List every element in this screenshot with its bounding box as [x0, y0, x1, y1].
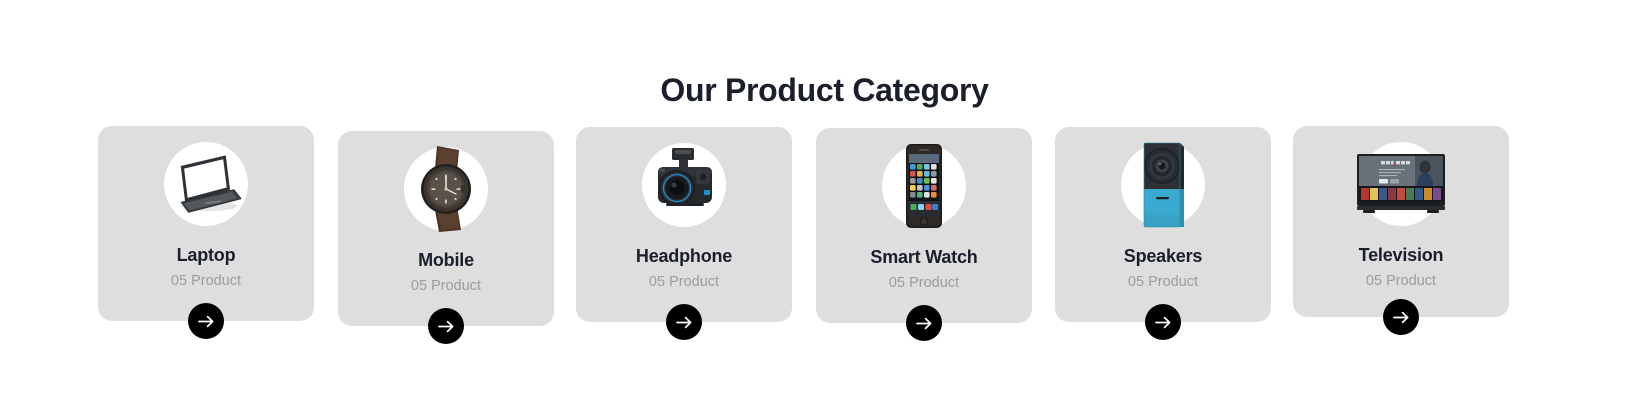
arrow-right-icon[interactable] [666, 304, 702, 340]
card-title: Headphone [576, 245, 792, 267]
category-card-speakers[interactable]: Speakers 05 Product [1055, 127, 1271, 322]
card-product-count: 05 Product [338, 276, 554, 296]
arrow-right-icon[interactable] [428, 308, 464, 344]
page-title: Our Product Category [0, 70, 1649, 110]
arrow-right-icon[interactable] [1383, 299, 1419, 335]
card-product-count: 05 Product [1293, 271, 1509, 291]
smartphone-image [882, 144, 966, 228]
card-title: Television [1293, 244, 1509, 266]
product-category-section: Our Product Category Laptop 05 [0, 0, 1649, 404]
arrow-right-icon[interactable] [188, 303, 224, 339]
card-title: Laptop [98, 244, 314, 266]
card-product-count: 05 Product [816, 273, 1032, 293]
card-title: Smart Watch [816, 246, 1032, 268]
category-carousel: Laptop 05 Product [98, 118, 1558, 348]
arrow-right-icon[interactable] [906, 305, 942, 341]
category-card-smart-watch[interactable]: Smart Watch 05 Product [816, 128, 1032, 323]
card-title: Speakers [1055, 245, 1271, 267]
category-card-television[interactable]: Television 05 Product [1293, 126, 1509, 317]
category-card-laptop[interactable]: Laptop 05 Product [98, 126, 314, 321]
laptop-image [164, 142, 248, 226]
television-image [1359, 142, 1443, 226]
category-card-mobile[interactable]: Mobile 05 Product [338, 131, 554, 326]
category-card-headphone[interactable]: Headphone 05 Product [576, 127, 792, 322]
dslr-camera-image [642, 143, 726, 227]
speaker-image [1121, 143, 1205, 227]
card-product-count: 05 Product [98, 271, 314, 291]
card-title: Mobile [338, 249, 554, 271]
wristwatch-image [404, 147, 488, 231]
card-product-count: 05 Product [1055, 272, 1271, 292]
card-product-count: 05 Product [576, 272, 792, 292]
arrow-right-icon[interactable] [1145, 304, 1181, 340]
